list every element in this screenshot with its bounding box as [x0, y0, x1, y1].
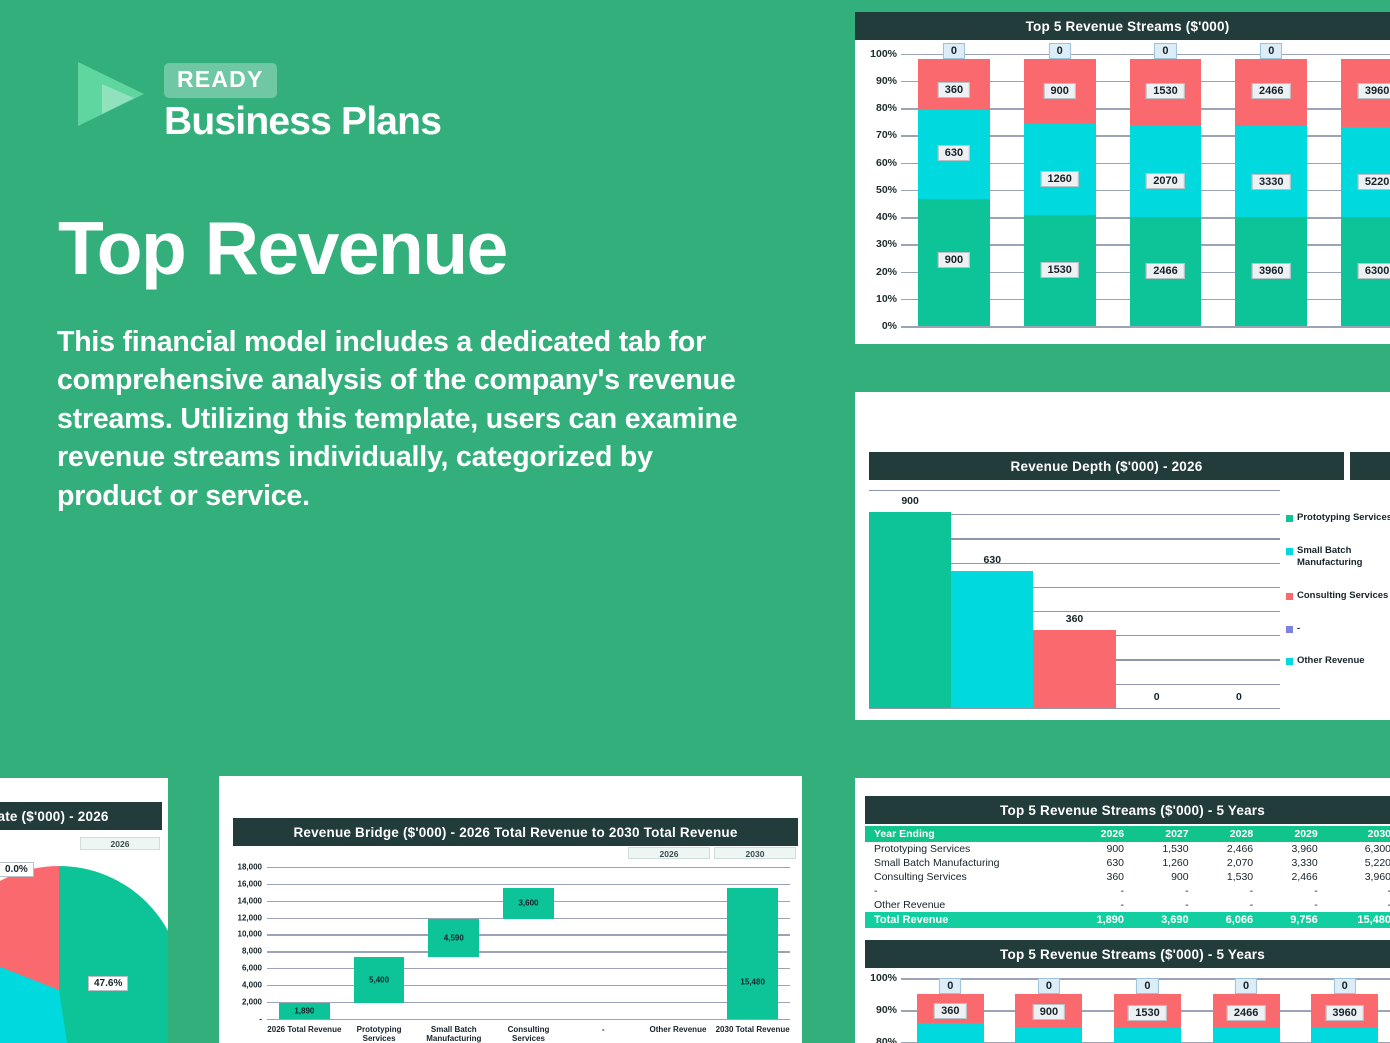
waterfall-col-other-revenue	[641, 867, 716, 1019]
bar-column-2029: 0 2466 3330 3960	[1218, 48, 1324, 326]
cell: -	[1198, 884, 1263, 898]
bridge-mini-headers: 2026 2030	[219, 846, 802, 859]
y-tick: 80%	[876, 102, 897, 114]
segment-consulting: 0 3960	[1311, 994, 1378, 1029]
cell: 2,070	[1198, 856, 1263, 870]
cell: 3,960	[1262, 842, 1327, 856]
chart-title-revenue-depth: Revenue Depth ($'000) - 2026	[869, 452, 1344, 480]
segment-label-prototyping: 1530	[1040, 262, 1078, 278]
segment-label-other: 0	[1235, 978, 1257, 994]
row-label: Other Revenue	[865, 898, 1068, 912]
segment-prototyping: 1530	[1024, 215, 1096, 326]
table-row: - - - - - -	[865, 884, 1390, 898]
cell: 3,330	[1262, 856, 1327, 870]
y-axis-percent: 100% 90% 80% 70% 60% 50% 40% 30% 20% 10%…	[855, 48, 901, 326]
segment-label-consulting: 900	[1044, 83, 1076, 99]
bar-column-2027: 0 900	[1000, 974, 1099, 1043]
cell: -	[1068, 884, 1133, 898]
y-tick: 50%	[876, 184, 897, 196]
y-tick: 100%	[870, 972, 897, 984]
segment-label-prototyping: 6300	[1358, 263, 1390, 279]
plot-area: 18,000 16,000 14,000 12,000 10,000 8,000…	[267, 867, 790, 1019]
bar-value: 630	[984, 554, 1002, 566]
title-bar-stub	[1350, 452, 1390, 480]
legend-label: Consulting Services	[1297, 590, 1388, 602]
cell: 1,530	[1133, 842, 1198, 856]
pie-slice-label-prototyping: 47.6%	[88, 976, 128, 991]
y-tick: 40%	[876, 211, 897, 223]
cell: 2,466	[1262, 870, 1327, 884]
chart-top5-stacked-large: 100% 90% 80% 70% 60% 50% 40% 30% 20% 10%…	[855, 40, 1390, 332]
bar-value: 3,600	[518, 899, 538, 908]
waterfall-col-small-batch: 4,590	[416, 867, 491, 1019]
segment-consulting: 0 360	[917, 994, 984, 1023]
segment-consulting: 0 360	[918, 59, 990, 110]
bar-consulting: 360	[1033, 490, 1115, 708]
waterfall-col-consulting: 3,600	[491, 867, 566, 1019]
segment-label-prototyping: 3960	[1252, 263, 1290, 279]
bar-column-2028: 0 1530	[1098, 974, 1197, 1043]
mini-year-2026: 2026	[628, 847, 710, 859]
chart-title-row: Revenue Bridge ($'000) - 2026 Total Reve…	[233, 818, 798, 846]
table-row: Small Batch Manufacturing 630 1,260 2,07…	[865, 856, 1390, 870]
y-tick: 6,000	[242, 964, 262, 973]
plot-area: 0 360 630 900 0 900 1260	[901, 48, 1390, 326]
segment-small-batch: 630	[917, 1023, 984, 1043]
y-tick: 90%	[876, 75, 897, 87]
y-tick: 10%	[876, 293, 897, 305]
legend-item-other-revenue: Other Revenue	[1286, 655, 1390, 667]
segment-consulting: 0 2466	[1213, 994, 1280, 1028]
table-title-top5-5-years: Top 5 Revenue Streams ($'000) - 5 Years	[865, 796, 1390, 824]
bar-column-2026: 0 360 630	[901, 974, 1000, 1043]
y-tick: 18,000	[238, 863, 262, 872]
cell: 900	[1068, 842, 1133, 856]
segment-label-small-batch: 630	[938, 145, 970, 161]
y-tick: 20%	[876, 266, 897, 278]
bar-column-2030: 3960 5220 6300	[1324, 48, 1390, 326]
x-tick: Consulting Services	[491, 1025, 566, 1043]
row-label: Small Batch Manufacturing	[865, 856, 1068, 870]
pie-chart	[0, 866, 168, 1043]
cell: -	[1262, 884, 1327, 898]
bar-value: 1,890	[294, 1007, 314, 1016]
y-tick: 60%	[876, 157, 897, 169]
segment-label-prototyping: 2466	[1146, 263, 1184, 279]
row-label: Total Revenue	[865, 912, 1068, 928]
segment-label-other: 0	[1154, 43, 1176, 59]
x-tick: 2026 Total Revenue	[267, 1025, 342, 1043]
chart-title-row: Top 5 Revenue Streams ($'000) - 5 Years	[865, 796, 1390, 824]
legend-swatch-icon	[1286, 548, 1293, 555]
waterfall-col-2026-total: 1,890	[267, 867, 342, 1019]
page-title: Top Revenue	[58, 205, 507, 291]
cell: 5,220	[1327, 856, 1390, 870]
y-tick: 2,000	[242, 997, 262, 1006]
col-2028: 2028	[1198, 826, 1263, 842]
cell: -	[1262, 898, 1327, 912]
bar-value: 0	[1154, 691, 1160, 703]
y-tick: 80%	[876, 1036, 897, 1043]
chart-title-row: Top 5 Revenue Streams ($'000) - 5 Years	[865, 940, 1390, 968]
card-revenue-bridge: Revenue Bridge ($'000) - 2026 Total Reve…	[219, 776, 802, 1043]
cell: 6,066	[1198, 912, 1263, 928]
legend-swatch-icon	[1286, 515, 1293, 522]
x-tick: 2030 Total Revenue	[715, 1025, 790, 1043]
cell: 2,466	[1198, 842, 1263, 856]
segment-label-other: 0	[943, 43, 965, 59]
segment-consulting: 0 2466	[1235, 59, 1307, 127]
segment-label-consulting: 3960	[1358, 83, 1390, 99]
card-run-rate-pie: Run-Rate ($'000) - 2026 2026 0.0% 0.0% 1…	[0, 778, 168, 1043]
chart-title-run-rate: Run-Rate ($'000) - 2026	[0, 802, 162, 830]
bar-prototyping: 900	[869, 490, 951, 708]
cell: -	[1133, 898, 1198, 912]
pie-slice-label-zero-b: 0.0%	[0, 862, 34, 877]
segment-label-consulting: 360	[934, 1003, 966, 1019]
y-tick: 90%	[876, 1004, 897, 1016]
y-tick: -	[259, 1015, 262, 1024]
segment-label-consulting: 360	[938, 82, 970, 98]
legend-label: Small Batch Manufacturing	[1297, 545, 1390, 569]
chart-legend: Prototyping Services Small Batch Manufac…	[1280, 490, 1390, 708]
table-row: Consulting Services 360 900 1,530 2,466 …	[865, 870, 1390, 884]
col-2029: 2029	[1262, 826, 1327, 842]
segment-label-other: 0	[1038, 978, 1060, 994]
chart-title-top5-small: Top 5 Revenue Streams ($'000) - 5 Years	[865, 940, 1390, 968]
segment-prototyping: 6300	[1341, 217, 1390, 326]
legend-swatch-icon	[1286, 593, 1293, 600]
segment-consulting: 3960	[1341, 59, 1390, 127]
y-tick: 70%	[876, 129, 897, 141]
bar-value: 5,400	[369, 976, 389, 985]
col-2027: 2027	[1133, 826, 1198, 842]
table-row: Prototyping Services 900 1,530 2,466 3,9…	[865, 842, 1390, 856]
segment-small-batch: 2070	[1130, 126, 1202, 217]
x-tick: Small Batch Manufacturing	[416, 1025, 491, 1043]
segment-label-small-batch: 2070	[1146, 173, 1184, 189]
cell: -	[1327, 884, 1390, 898]
brand-logo: READY Business Plans	[72, 58, 441, 143]
legend-swatch-icon	[1286, 626, 1293, 633]
ready-badge: READY	[164, 63, 277, 98]
segment-label-consulting: 900	[1033, 1004, 1065, 1020]
y-tick: 0%	[882, 320, 897, 332]
legend-item-consulting: Consulting Services	[1286, 590, 1390, 602]
waterfall-col-blank	[566, 867, 641, 1019]
bar-column-2027: 0 900 1260 1530	[1007, 48, 1113, 326]
segment-small-batch: 3330	[1235, 126, 1307, 217]
chart-revenue-bridge: 18,000 16,000 14,000 12,000 10,000 8,000…	[219, 859, 802, 1043]
legend-swatch-icon	[1286, 658, 1293, 665]
bar-value: 4,590	[444, 934, 464, 943]
bar-column-2030: 0 3960	[1295, 974, 1390, 1043]
col-2030: 2030	[1327, 826, 1390, 842]
bar-small-batch: 630	[951, 490, 1033, 708]
bar-value: 15,480	[740, 978, 764, 987]
chart-top5-stacked-small: 100% 90% 80% 70% 0 360 630 0	[855, 968, 1390, 1043]
bar-value: 360	[1066, 613, 1084, 625]
col-year-ending: Year Ending	[865, 826, 1068, 842]
bar-column-2026: 0 360 630 900	[901, 48, 1007, 326]
y-tick: 30%	[876, 238, 897, 250]
cell: 9,756	[1262, 912, 1327, 928]
chart-title-row: Revenue Depth ($'000) - 2026	[869, 452, 1390, 480]
segment-label-consulting: 1530	[1128, 1005, 1166, 1021]
chart-title-top5-large: Top 5 Revenue Streams ($'000)	[855, 12, 1390, 40]
segment-label-other: 0	[1136, 978, 1158, 994]
card-top5-stacked-large: Top 5 Revenue Streams ($'000) 100% 90% 8…	[855, 12, 1390, 344]
cell: 1,530	[1198, 870, 1263, 884]
bar-column-2029: 0 2466	[1197, 974, 1296, 1043]
pie-year-header: 2026	[80, 837, 160, 850]
segment-label-consulting: 2466	[1227, 1005, 1265, 1021]
segment-label-small-batch: 5220	[1358, 174, 1390, 190]
cell: 900	[1133, 870, 1198, 884]
segment-small-batch: 630	[918, 110, 990, 199]
cell: 1,260	[1133, 856, 1198, 870]
segment-small-batch: 1260	[1024, 124, 1096, 215]
waterfall-bars: 1,890 5,400 4,590 3,600 15,480	[267, 867, 790, 1019]
legend-label: -	[1297, 623, 1300, 635]
cell: 6,300	[1327, 842, 1390, 856]
mini-year-2030: 2030	[714, 847, 796, 859]
bar-value: 0	[1236, 691, 1242, 703]
segment-prototyping: 3960	[1235, 217, 1307, 326]
cell: 3,960	[1327, 870, 1390, 884]
cell: -	[1327, 898, 1390, 912]
y-tick: 8,000	[242, 947, 262, 956]
chart-title-revenue-bridge: Revenue Bridge ($'000) - 2026 Total Reve…	[233, 818, 798, 846]
x-tick: Prototyping Services	[342, 1025, 417, 1043]
y-tick: 100%	[870, 48, 897, 60]
segment-label-consulting: 2466	[1252, 83, 1290, 99]
segment-small-batch	[1015, 1027, 1082, 1043]
bar-value: 900	[901, 495, 919, 507]
segment-label-consulting: 1530	[1146, 83, 1184, 99]
card-revenue-depth: Revenue Depth ($'000) - 2026 900	[855, 392, 1390, 720]
segment-small-batch	[1114, 1028, 1181, 1043]
segment-prototyping: 2466	[1130, 217, 1202, 326]
segment-label-small-batch: 3330	[1252, 174, 1290, 190]
segment-prototyping: 900	[918, 199, 990, 326]
segment-label-other: 0	[939, 978, 961, 994]
y-tick: 12,000	[238, 913, 262, 922]
segment-label-other: 0	[1260, 43, 1282, 59]
plot-area: 900 630 360 0	[869, 490, 1280, 708]
table-top5-revenue-streams: Year Ending 2026 2027 2028 2029 2030 Pro…	[865, 826, 1390, 928]
y-tick: 16,000	[238, 879, 262, 888]
cell: -	[1068, 898, 1133, 912]
row-label: Consulting Services	[865, 870, 1068, 884]
cell: -	[1133, 884, 1198, 898]
y-tick: 14,000	[238, 896, 262, 905]
segment-consulting: 0 1530	[1114, 994, 1181, 1028]
waterfall-col-prototyping: 5,400	[342, 867, 417, 1019]
card-top5-table-and-chart: Top 5 Revenue Streams ($'000) - 5 Years …	[855, 778, 1390, 1043]
legend-label: Prototyping Services	[1297, 512, 1390, 524]
legend-item-blank: -	[1286, 623, 1390, 635]
bar-other-revenue: 0	[1198, 490, 1280, 708]
x-axis-labels: 2026 Total Revenue Prototyping Services …	[267, 1019, 790, 1043]
table-row: Other Revenue - - - - -	[865, 898, 1390, 912]
cell: -	[1198, 898, 1263, 912]
segment-label-consulting: 3960	[1325, 1005, 1363, 1021]
x-tick: -	[566, 1025, 641, 1043]
col-2026: 2026	[1068, 826, 1133, 842]
legend-item-prototyping: Prototyping Services	[1286, 512, 1390, 524]
play-triangle-icon	[72, 58, 150, 130]
bars: 900 630 360 0	[869, 490, 1280, 708]
bar-blank: 0	[1116, 490, 1198, 708]
row-label: Prototyping Services	[865, 842, 1068, 856]
segment-small-batch	[1311, 1028, 1378, 1043]
segment-small-batch: 5220	[1341, 127, 1390, 217]
cell: 15,480	[1327, 912, 1390, 928]
cell: 360	[1068, 870, 1133, 884]
segment-consulting: 0 900	[1024, 59, 1096, 124]
segment-label-other: 0	[1049, 43, 1071, 59]
legend-item-small-batch: Small Batch Manufacturing	[1286, 545, 1390, 569]
brand-name: Business Plans	[164, 102, 441, 143]
y-axis-percent: 100% 90% 80% 70%	[855, 974, 901, 1043]
segment-label-other: 0	[1334, 978, 1356, 994]
segment-small-batch	[1213, 1028, 1280, 1043]
cell: 1,890	[1068, 912, 1133, 928]
row-label: -	[865, 884, 1068, 898]
page-description: This financial model includes a dedicate…	[57, 323, 757, 515]
y-tick: 10,000	[238, 930, 262, 939]
x-tick: Other Revenue	[641, 1025, 716, 1043]
plot-area: 0 360 630 0 900 0 1530	[901, 974, 1390, 1043]
segment-consulting: 0 1530	[1130, 59, 1202, 126]
legend-label: Other Revenue	[1297, 655, 1365, 667]
cell: 3,690	[1133, 912, 1198, 928]
waterfall-col-2030-total: 15,480	[715, 867, 790, 1019]
bar-column-2028: 0 1530 2070 2466	[1113, 48, 1219, 326]
table-header-row: Year Ending 2026 2027 2028 2029 2030	[865, 826, 1390, 842]
chart-revenue-depth: 900 630 360 0	[855, 480, 1390, 716]
segment-label-small-batch: 1260	[1040, 171, 1078, 187]
y-tick: 4,000	[242, 981, 262, 990]
table-total-row: Total Revenue 1,890 3,690 6,066 9,756 15…	[865, 912, 1390, 928]
cell: 630	[1068, 856, 1133, 870]
chart-title-row: Top 5 Revenue Streams ($'000)	[855, 12, 1390, 40]
segment-label-prototyping: 900	[938, 252, 970, 268]
segment-consulting: 0 900	[1015, 994, 1082, 1028]
